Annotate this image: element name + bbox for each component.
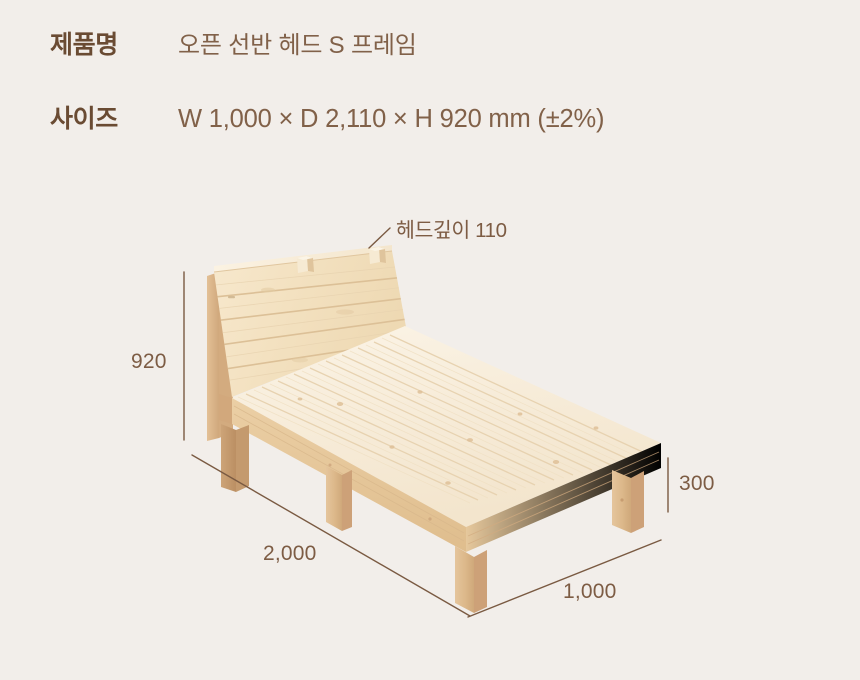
dimension-label-height: 920 [131,350,167,374]
leg-foot-right [612,470,644,533]
spec-label-product-name: 제품명 [50,30,178,60]
spec-label-size: 사이즈 [50,104,178,134]
shelf-divider-tab-right [369,247,386,264]
headboard-panel [214,251,406,397]
dimension-label-leg-height: 300 [679,472,715,496]
spec-table: 제품명 오픈 선반 헤드 S 프레임 사이즈 W 1,000 × D 2,110… [50,30,810,178]
leader-line-head-depth [369,228,390,248]
dimension-lines [184,228,668,617]
platform-front-rail [232,398,466,552]
spec-row-product-name: 제품명 오픈 선반 헤드 S 프레임 [50,30,810,104]
headboard-left-post [207,272,219,441]
leg-front-middle [326,466,352,531]
platform-slats [238,335,649,503]
platform-top-surface [232,326,661,527]
spec-row-size: 사이즈 W 1,000 × D 2,110 × H 920 mm (±2%) [50,104,810,178]
shelf-divider-tab-left [297,256,314,273]
front-rail-grain [234,406,464,541]
dimension-line-width [468,540,661,617]
platform-foot-rail [466,443,661,552]
headboard-top-edge [214,245,392,272]
leg-front-corner [455,546,487,613]
headboard-left-post-side [219,272,233,438]
product-spec-page: 제품명 오픈 선반 헤드 S 프레임 사이즈 W 1,000 × D 2,110… [0,0,860,680]
platform-head-rail [219,394,232,424]
dimension-label-width: 1,000 [563,580,617,604]
dimension-line-length [192,455,470,616]
dimension-label-head-depth: 헤드깊이 110 [396,213,507,243]
headboard-slats [205,265,415,384]
leg-head-left [221,424,249,492]
headboard-fitting-mark [228,296,235,298]
spec-value-product-name: 오픈 선반 헤드 S 프레임 [178,31,417,61]
dimension-label-length: 2,000 [263,542,317,566]
spec-value-size: W 1,000 × D 2,110 × H 920 mm (±2%) [178,104,604,134]
foot-rail-grain [468,452,659,544]
